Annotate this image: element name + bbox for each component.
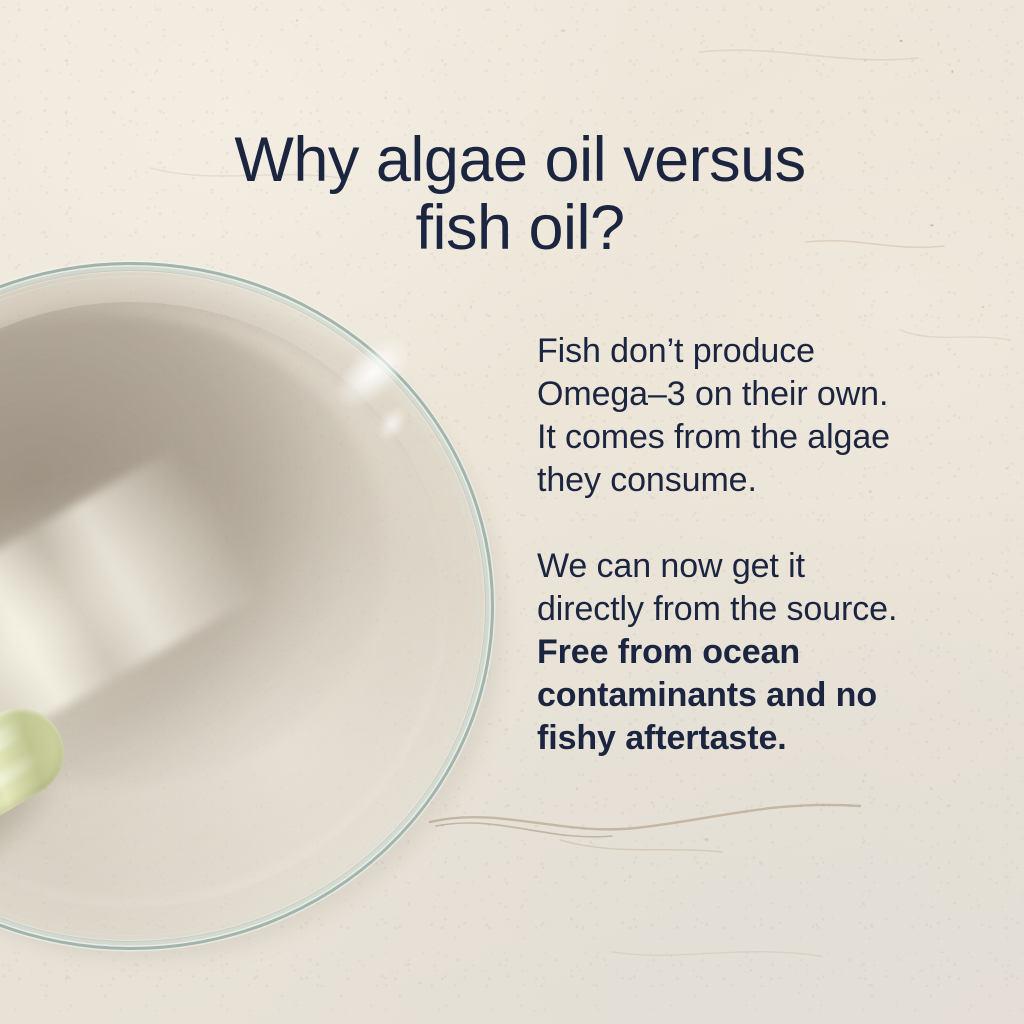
page-title: Why algae oil versus fish oil? — [140, 126, 900, 262]
paragraph-2-line-5: fishy aftertaste. — [537, 717, 1007, 760]
body-copy: Fish don’t produce Omega–3 on their own.… — [537, 330, 1007, 760]
headline-line-2: fish oil? — [140, 194, 900, 262]
paragraph-1-line-4: they consume. — [537, 459, 1007, 502]
paragraph-2-line-4: contaminants and no — [537, 674, 1007, 717]
glass-bowl — [0, 262, 494, 950]
paragraph-2-line-1: We can now get it — [537, 545, 1007, 588]
body-paragraph-1: Fish don’t produce Omega–3 on their own.… — [537, 330, 1007, 502]
paragraph-1-line-2: Omega–3 on their own. — [537, 373, 1007, 416]
promo-card: Why algae oil versus fish oil? Fish don’… — [0, 0, 1024, 1024]
paragraph-2-line-2: directly from the source. — [537, 588, 1007, 631]
paragraph-1-line-3: It comes from the algae — [537, 416, 1007, 459]
paragraph-1-line-1: Fish don’t produce — [537, 330, 1007, 373]
body-paragraph-2: We can now get it directly from the sour… — [537, 545, 1007, 760]
paragraph-2-line-3: Free from ocean — [537, 631, 1007, 674]
headline-line-1: Why algae oil versus — [140, 126, 900, 194]
